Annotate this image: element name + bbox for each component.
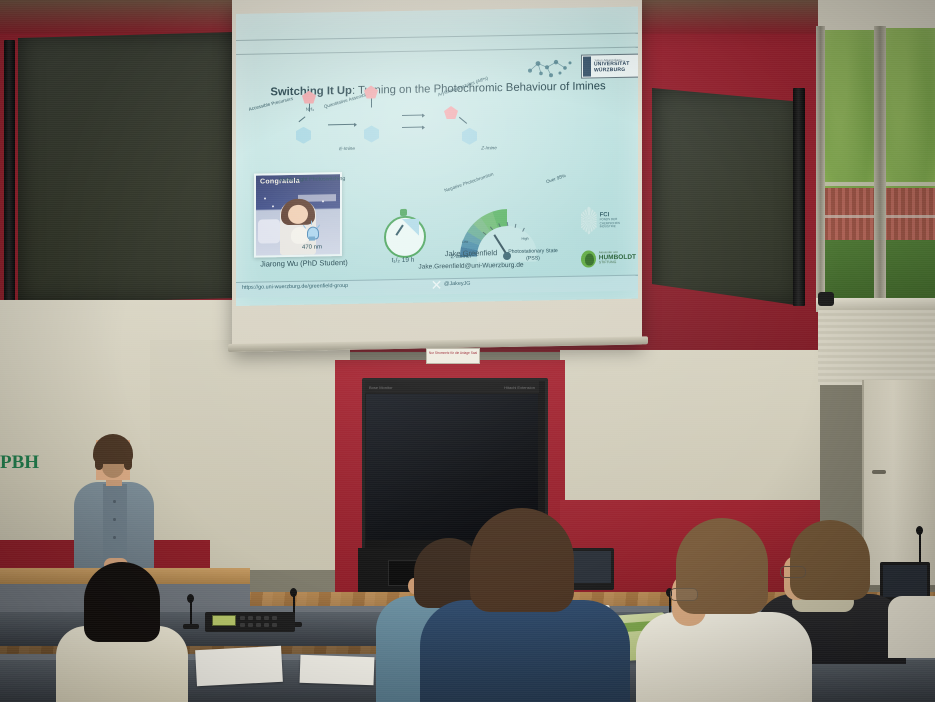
label-visible-light-photoswitching: Visible Light Photoswitching xyxy=(276,176,348,184)
whiteboard-note: PBH xyxy=(0,452,39,474)
lecture-hall-photograph: PBH xyxy=(0,0,935,702)
photo-background-object xyxy=(258,219,280,243)
lamp-icon xyxy=(304,224,320,242)
presenter-name: Jake Greenfield xyxy=(445,248,498,258)
label-wavelength: 470 nm xyxy=(288,244,336,252)
reaction-arrow-1 xyxy=(328,124,356,126)
beige-wall-middle xyxy=(150,340,350,570)
molecule-decoration-icon xyxy=(524,56,576,81)
label-over-95: Over 95% xyxy=(534,169,578,189)
presenter-credit: Jake Greenfield Jake.Greenfield@uni-Wuer… xyxy=(376,246,566,273)
reaction-arrow-forward xyxy=(402,115,424,116)
desk-monitor-right-screen xyxy=(883,565,927,597)
window-mullion-center xyxy=(874,26,886,302)
benzene-ring-2 xyxy=(364,125,379,142)
av-display-top-strip: Bose Monitor Hitachi Extension xyxy=(365,381,539,393)
university-logo-bar xyxy=(583,56,591,76)
audience-member-4-glasses xyxy=(670,588,698,601)
reaction-arrow-reverse xyxy=(402,127,424,128)
humboldt-subtitle: STIFTUNG xyxy=(599,261,636,266)
right-chalkboard xyxy=(652,88,802,306)
av-brand-left: Bose Monitor xyxy=(369,385,393,390)
humboldt-logo: Alexander von HUMBOLDT STIFTUNG xyxy=(581,245,636,272)
microphone-stem-1 xyxy=(190,600,192,626)
microphone-base-1 xyxy=(183,624,199,629)
humboldt-badge-icon xyxy=(581,250,596,267)
right-wall-rail xyxy=(793,88,805,306)
pyrazole-ring-3 xyxy=(444,106,458,119)
whiteboard-note-text: PBH xyxy=(0,452,39,473)
label-negative-photochromism: Negative Photochromism xyxy=(441,170,498,194)
university-logo-line2: WÜRZBURG xyxy=(594,67,625,74)
presenter-email: Jake.Greenfield@uni-Wuerzburg.de xyxy=(418,261,523,270)
benzene-ring-1 xyxy=(296,127,311,144)
av-brand-right: Hitachi Extension xyxy=(504,385,535,390)
room-door[interactable] xyxy=(862,380,935,585)
control-panel-lcd xyxy=(212,615,236,626)
window-lower-panel xyxy=(818,310,935,385)
label-z-imine: Z-Imine xyxy=(472,145,506,151)
audience-member-5-glasses xyxy=(780,566,806,578)
audience-member-3-body xyxy=(420,600,630,702)
window-mullion-left xyxy=(816,26,825,304)
audience-member-1-head xyxy=(84,562,160,642)
x-twitter-icon xyxy=(432,280,441,289)
slide-rule-second xyxy=(236,47,638,55)
social-handle[interactable]: @JakeyJG xyxy=(444,281,470,287)
audience-member-5-head xyxy=(790,520,870,600)
student-credit: Jiarong Wu (PhD Student) xyxy=(244,258,364,269)
audience-member-4-body xyxy=(636,612,812,702)
label-nh2: NH₂ xyxy=(302,106,318,112)
door-handle[interactable] xyxy=(872,470,886,474)
fci-logo-text: FCI FONDS DER CHEMISCHEN INDUSTRIE xyxy=(600,211,633,228)
label-e-imine: E-Imine xyxy=(330,146,364,152)
slide-rule-top xyxy=(236,33,638,41)
label-gauge-high: High xyxy=(514,237,536,242)
desk-papers-2 xyxy=(300,655,375,686)
left-wall-rail xyxy=(4,40,15,306)
projected-slide: Julius-Maximilians- UNIVERSITÄT WÜRZBURG… xyxy=(236,7,638,306)
fci-logo: FCI FONDS DER CHEMISCHEN INDUSTRIE xyxy=(581,197,633,244)
audience-member-6-arm xyxy=(888,596,935,658)
fci-subtitle: FONDS DER CHEMISCHEN INDUSTRIE xyxy=(600,218,633,229)
university-logo: Julius-Maximilians- UNIVERSITÄT WÜRZBURG xyxy=(581,54,638,79)
left-chalkboard xyxy=(18,32,236,304)
desk-papers-1 xyxy=(195,646,283,686)
label-gauge-low: Low xyxy=(454,240,476,245)
av-warning-sign-text: Nur Stromnetz für die Anlage Saal xyxy=(427,349,479,355)
av-warning-sign: Nur Stromnetz für die Anlage Saal xyxy=(426,348,480,364)
university-logo-text: Julius-Maximilians- UNIVERSITÄT WÜRZBURG xyxy=(594,58,630,74)
humboldt-logo-text: Alexander von HUMBOLDT STIFTUNG xyxy=(599,251,636,266)
fci-hex-icon xyxy=(581,206,597,234)
wall-camera-icon xyxy=(818,292,834,306)
benzene-ring-3 xyxy=(462,128,477,145)
audience-member-3-head xyxy=(470,508,574,612)
